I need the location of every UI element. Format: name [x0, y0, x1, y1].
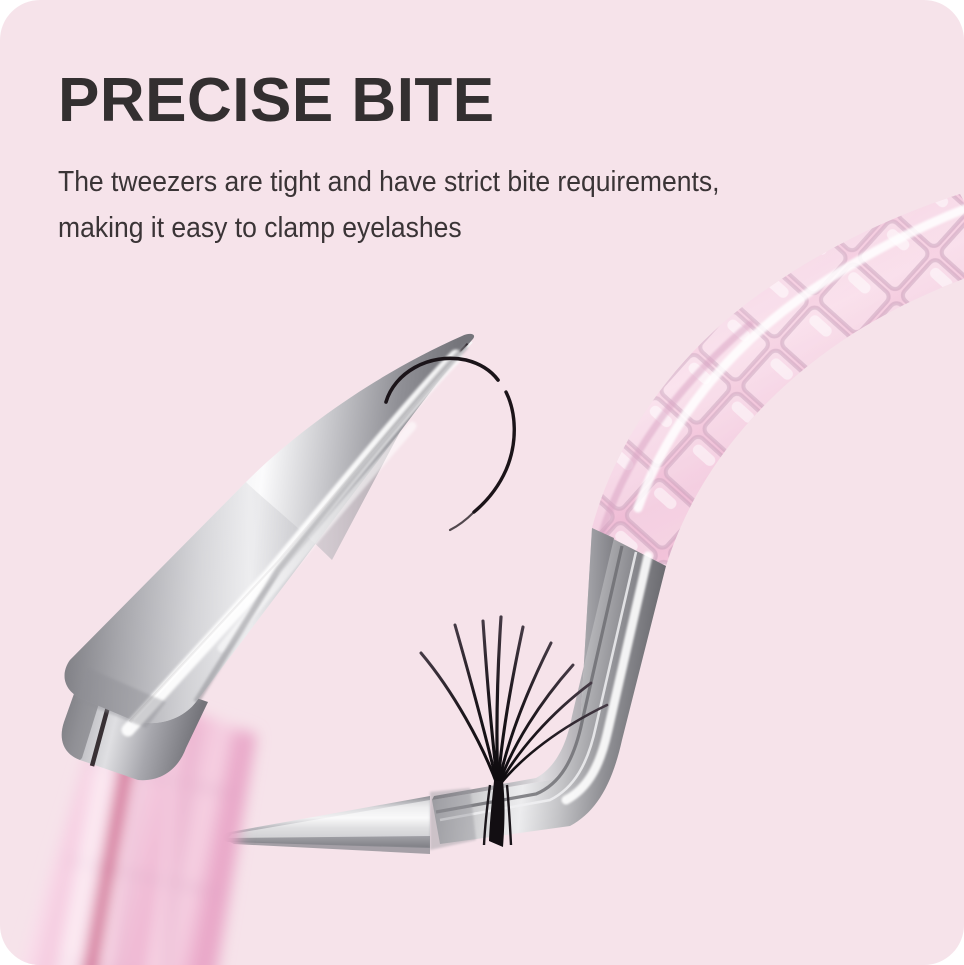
header-text-block: PRECISE BITE The tweezers are tight and …: [58, 68, 838, 251]
single-curved-lash: [370, 330, 570, 530]
lash-fan: [395, 595, 665, 855]
lash-fan-base: [484, 781, 511, 847]
lash-fan-strands: [421, 617, 607, 787]
page-title: PRECISE BITE: [58, 68, 838, 133]
product-feature-card: PRECISE BITE The tweezers are tight and …: [0, 0, 964, 965]
page-subtitle: The tweezers are tight and have strict b…: [58, 159, 746, 251]
